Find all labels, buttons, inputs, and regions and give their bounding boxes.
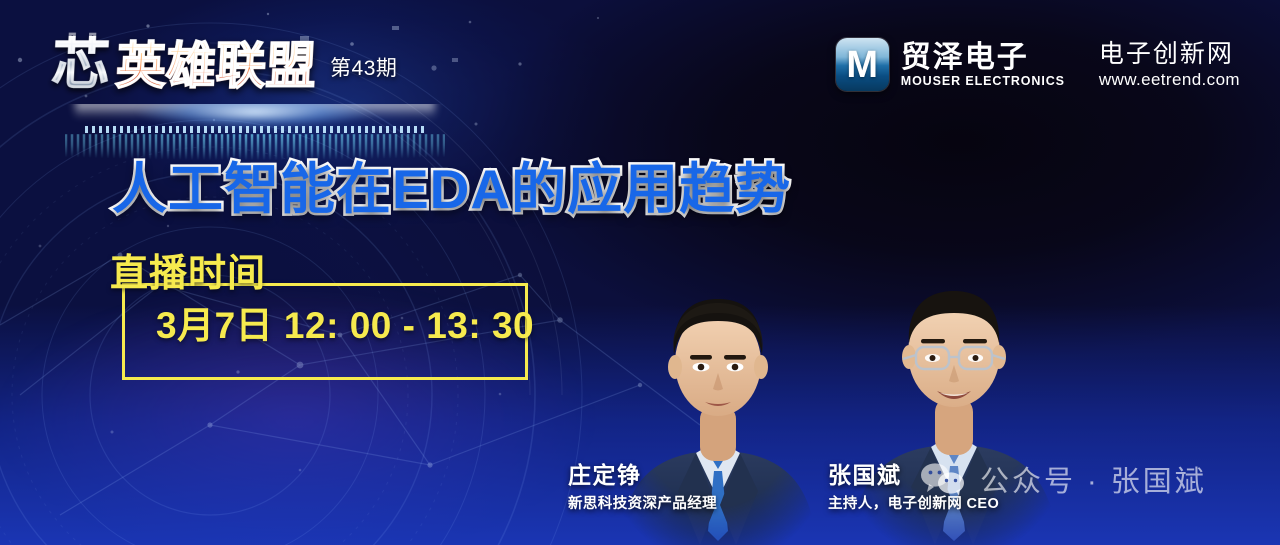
series-logo-accent-word: 芯 (51, 36, 112, 91)
schedule-value: 3月7日 12: 00 - 13: 30 (156, 307, 534, 344)
wechat-icon (920, 462, 966, 496)
watermark-text: 公众号 · 张国斌 (980, 458, 1207, 500)
series-issue-number: 第43期 (330, 52, 397, 82)
mouser-logo: M 贸泽电子 MOUSER ELECTRONICS (836, 38, 1065, 91)
mouser-name-en: MOUSER ELECTRONICS (901, 75, 1065, 88)
series-logo: 芯 英雄联盟 第43期 (52, 36, 397, 91)
series-logo-main-word: 英雄联盟 (115, 41, 318, 91)
schedule-label: 直播时间 (110, 255, 280, 293)
sponsor-bar: M 贸泽电子 MOUSER ELECTRONICS 电子创新网 www.eetr… (836, 38, 1240, 91)
speaker-role-1: 新思科技资深产品经理 (568, 496, 717, 513)
webinar-banner: 芯 英雄联盟 第43期 M 贸泽电子 MOUSER ELECTRONICS 电子… (0, 0, 1280, 545)
eetrend-logo: 电子创新网 www.eetrend.com (1099, 41, 1240, 88)
watermark: 公众号 · 张国斌 (920, 458, 1207, 500)
eetrend-name-cn: 电子创新网 (1099, 41, 1234, 67)
eetrend-url: www.eetrend.com (1099, 71, 1240, 88)
page-title: 人工智能在EDA的应用趋势 (112, 144, 791, 224)
speaker-caption-1: 庄定铮 新思科技资深产品经理 (568, 462, 717, 513)
speaker-name-1: 庄定铮 (568, 462, 717, 490)
schedule-block: 直播时间 3月7日 12: 00 - 13: 30 (110, 255, 530, 380)
mouser-mark-letter: M (846, 46, 878, 84)
mouser-name-cn: 贸泽电子 (901, 42, 1065, 74)
mouser-mark-icon: M (836, 38, 889, 91)
